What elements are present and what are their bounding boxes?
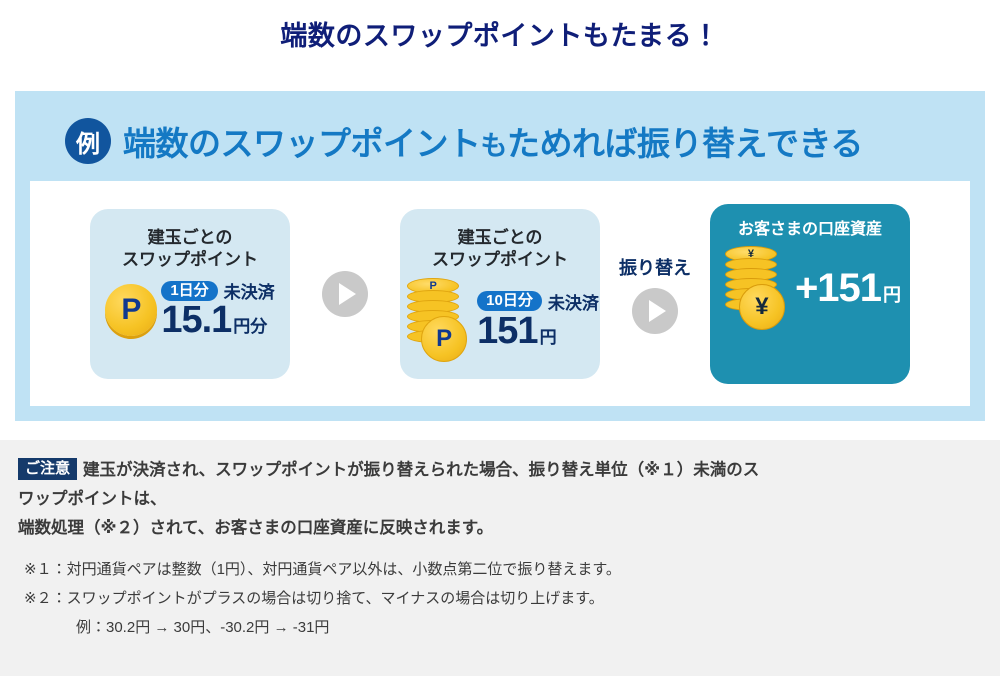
card2-title-line2: スワップポイント	[400, 249, 600, 272]
card2-value-unit: 円	[540, 323, 557, 348]
card2-status: 未決済	[548, 289, 599, 314]
card1-title-line2: スワップポイント	[90, 249, 290, 272]
page-title: 端数のスワップポイントもたまる！	[0, 14, 1000, 53]
panel-heading: 端数のスワップポイントもためれば振り替えできる	[123, 117, 863, 165]
card3-value-unit: 円	[883, 281, 901, 307]
caution-badge: ご注意	[18, 458, 77, 480]
card3-body: ¥ ¥ +151 円	[710, 246, 910, 330]
notice-inner: ご注意建玉が決済され、スワップポイントが振り替えられた場合、振り替え単位（※１）…	[0, 440, 1000, 642]
card1-day-badge: 1日分	[161, 281, 217, 301]
example-badge-icon: 例	[65, 118, 111, 164]
card2-value-number: 151	[477, 312, 537, 352]
transfer-label: 振り替え	[619, 254, 691, 280]
card1-status: 未決済	[224, 278, 275, 303]
point-coin-stack-icon: P P	[401, 278, 475, 362]
panel-heading-part1: 端数のスワップポイント	[123, 125, 481, 162]
step-arrow-2: 振り替え	[600, 254, 710, 334]
card3-title: お客さまの口座資産	[710, 220, 910, 241]
notice-main-text: ご注意建玉が決済され、スワップポイントが振り替えられた場合、振り替え単位（※１）…	[18, 456, 980, 543]
card2-value-block: 10日分 未決済 151 円	[477, 289, 599, 352]
panel-heading-part2: も	[481, 131, 508, 161]
point-coin-icon: P	[105, 284, 157, 336]
steps-panel: 建玉ごとの スワップポイント P 1日分 未決済 15.1 円分	[30, 181, 970, 406]
example-panel: 例 端数のスワップポイントもためれば振り替えできる 建玉ごとの スワップポイント…	[15, 91, 985, 421]
card2-body: P P 10日分 未決済	[400, 278, 600, 362]
card2-day-badge: 10日分	[477, 291, 542, 311]
notice-line2: ワップポイントは、	[18, 485, 980, 514]
play-triangle-icon	[322, 271, 368, 317]
step-card-swap-point-1day: 建玉ごとの スワップポイント P 1日分 未決済 15.1 円分	[90, 209, 290, 379]
card2-title: 建玉ごとの スワップポイント	[400, 227, 600, 273]
footnote-1: ※１：対円通貨ペアは整数（1円）、対円通貨ペア以外は、小数点第二位で振り替えます…	[18, 555, 980, 584]
triangle-shape	[649, 300, 666, 322]
coin-front: P	[421, 316, 467, 362]
card3-value: +151 円	[795, 267, 901, 309]
steps-row: 建玉ごとの スワップポイント P 1日分 未決済 15.1 円分	[30, 181, 970, 406]
step-arrow-1	[290, 271, 400, 317]
footnote-2: ※２：スワップポイントがプラスの場合は切り捨て、マイナスの場合は切り上げます。	[18, 584, 980, 613]
step-card-account-asset: お客さまの口座資産 ¥ ¥ +151	[710, 204, 910, 384]
coin-front: ¥	[739, 284, 785, 330]
panel-header: 例 端数のスワップポイントもためれば振り替えできる	[65, 117, 863, 165]
card2-value: 151 円	[477, 312, 556, 352]
notice-section: ご注意建玉が決済され、スワップポイントが振り替えられた場合、振り替え単位（※１）…	[0, 440, 1000, 676]
yen-coin-stack-icon: ¥ ¥	[719, 246, 793, 330]
card1-title-line1: 建玉ごとの	[90, 227, 290, 250]
panel-heading-part3: ためれば振り替えできる	[507, 125, 863, 162]
card1-title: 建玉ごとの スワップポイント	[90, 227, 290, 273]
notice-line1: 建玉が決済され、スワップポイントが振り替えられた場合、振り替え単位（※１）未満の…	[83, 461, 759, 479]
footnote-example: 例：30.2円 → 30円、-30.2円 → -31円	[18, 613, 980, 642]
card2-title-line1: 建玉ごとの	[400, 227, 600, 250]
notice-line3: 端数処理（※２）されて、お客さまの口座資産に反映されます。	[18, 514, 980, 543]
step-card-swap-point-10day: 建玉ごとの スワップポイント P P	[400, 209, 600, 379]
footnotes: ※１：対円通貨ペアは整数（1円）、対円通貨ペア以外は、小数点第二位で振り替えます…	[18, 555, 980, 643]
card1-value-number: 15.1	[161, 301, 231, 341]
card1-value-unit: 円分	[233, 312, 267, 337]
card1-value: 15.1 円分	[161, 301, 267, 341]
page-root: 端数のスワップポイントもたまる！ 例 端数のスワップポイントもためれば振り替えで…	[0, 0, 1000, 676]
card3-value-number: +151	[795, 267, 881, 309]
triangle-shape	[339, 283, 356, 305]
play-triangle-icon	[632, 288, 678, 334]
card1-body: P 1日分 未決済 15.1 円分	[90, 278, 290, 341]
card1-value-block: 1日分 未決済 15.1 円分	[161, 278, 274, 341]
